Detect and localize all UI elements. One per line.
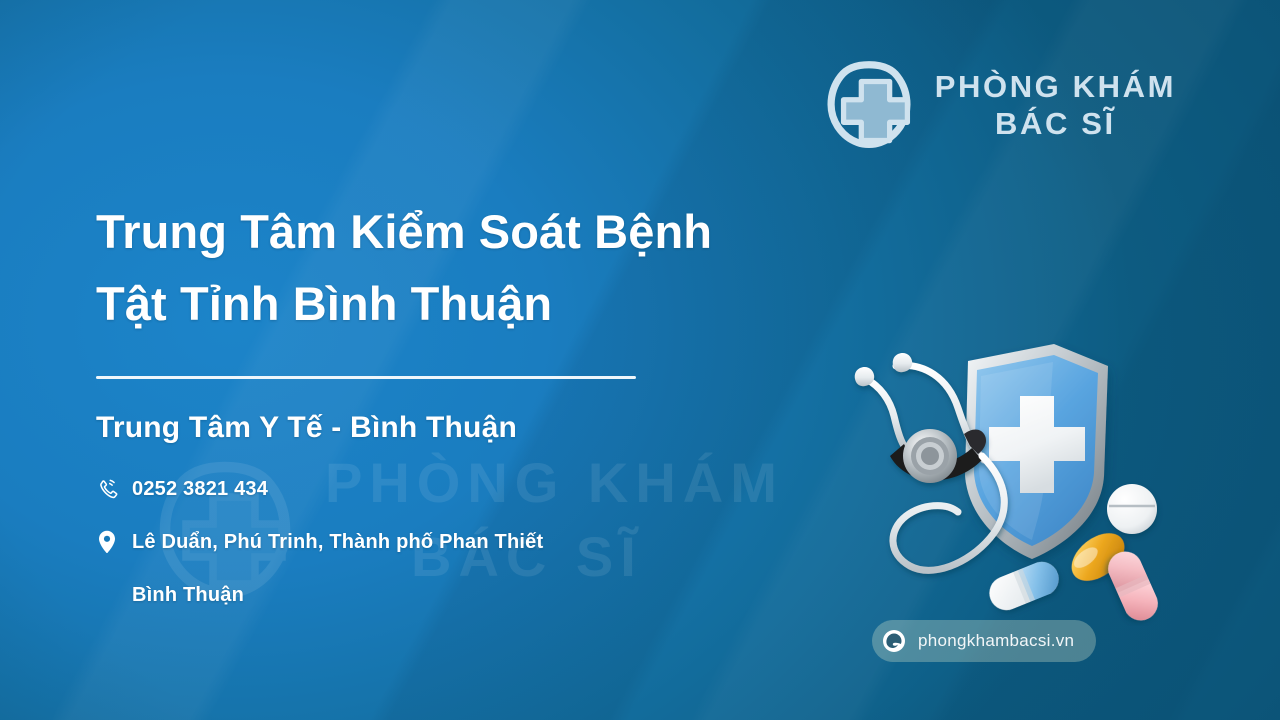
phone-number: 0252 3821 434 (132, 475, 268, 504)
brand-line1: PHÒNG KHÁM (935, 69, 1176, 106)
location-pin-icon (96, 529, 118, 555)
round-tablet (1107, 484, 1157, 534)
address-line1: Lê Duẩn, Phú Trinh, Thành phố Phan Thiết (132, 531, 543, 553)
medical-shield-stethoscope-pills-illustration (836, 316, 1186, 626)
phone-call-icon (96, 476, 118, 502)
brand-line2: BÁC SĨ (935, 106, 1176, 143)
page-title: Trung Tâm Kiểm Soát Bệnh Tật Tỉnh Bình T… (96, 196, 856, 340)
brand-logo: PHÒNG KHÁM BÁC SĨ (821, 58, 1176, 154)
shield-with-cross (965, 344, 1108, 559)
clinic-info-block: Trung Tâm Kiểm Soát Bệnh Tật Tỉnh Bình T… (96, 196, 856, 610)
page-title-line1: Trung Tâm Kiểm Soát Bệnh (96, 205, 712, 258)
medical-cross-badge-icon (821, 58, 917, 154)
page-subtitle: Trung Tâm Y Tế - Bình Thuận (96, 411, 856, 445)
globe-icon (882, 629, 906, 653)
brand-wordmark: PHÒNG KHÁM BÁC SĨ (935, 69, 1176, 142)
blue-white-capsule (984, 557, 1063, 615)
page-title-line2: Tật Tỉnh Bình Thuận (96, 277, 552, 330)
address-text: Lê Duẩn, Phú Trinh, Thành phố Phan Thiết (132, 528, 543, 557)
banner-canvas: PHÒNG KHÁM BÁC SĨ PHÒNG KHÁM BÁC SĨ Trun… (0, 0, 1280, 720)
contact-phone-row[interactable]: 0252 3821 434 (96, 475, 856, 504)
title-divider (96, 376, 636, 379)
address-line2: Bình Thuận (96, 581, 856, 610)
website-badge[interactable]: phongkhambacsi.vn (872, 620, 1096, 662)
website-url: phongkhambacsi.vn (918, 631, 1074, 651)
contact-address-row[interactable]: Lê Duẩn, Phú Trinh, Thành phố Phan Thiết (96, 528, 856, 557)
contact-list: 0252 3821 434 Lê Duẩn, Phú Trinh, Thành … (96, 475, 856, 610)
